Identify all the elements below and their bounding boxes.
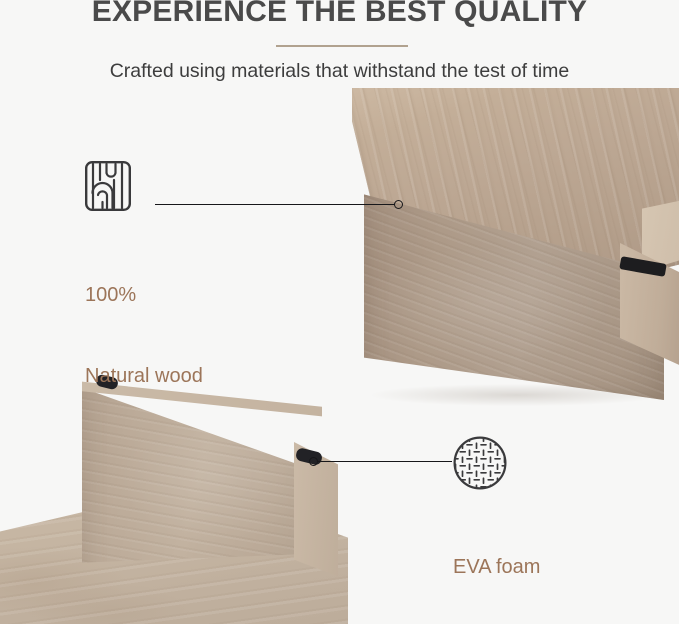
foam-texture-icon <box>452 435 508 496</box>
feature-label-eva-foam: EVA foam rubber pads <box>453 500 560 624</box>
feature-line-2: Natural wood <box>85 363 203 390</box>
callout-marker-natural-wood <box>394 200 403 209</box>
wood-grain-icon <box>84 160 132 217</box>
infographic-canvas: EXPERIENCE THE BEST QUALITY Crafted usin… <box>0 0 679 624</box>
title-divider <box>276 45 408 47</box>
page-subtitle: Crafted using materials that withstand t… <box>0 57 679 85</box>
callout-line-eva-foam <box>318 461 452 462</box>
feature-line-1: 100% <box>85 282 203 309</box>
feature-label-natural-wood: 100% Natural wood <box>85 228 203 444</box>
page-title: EXPERIENCE THE BEST QUALITY <box>0 0 679 32</box>
callout-line-natural-wood <box>155 204 395 205</box>
product-photo-top <box>352 88 679 408</box>
product-shadow <box>372 384 662 406</box>
callout-marker-eva-foam <box>309 457 318 466</box>
feature-line-1: EVA foam <box>453 554 560 581</box>
